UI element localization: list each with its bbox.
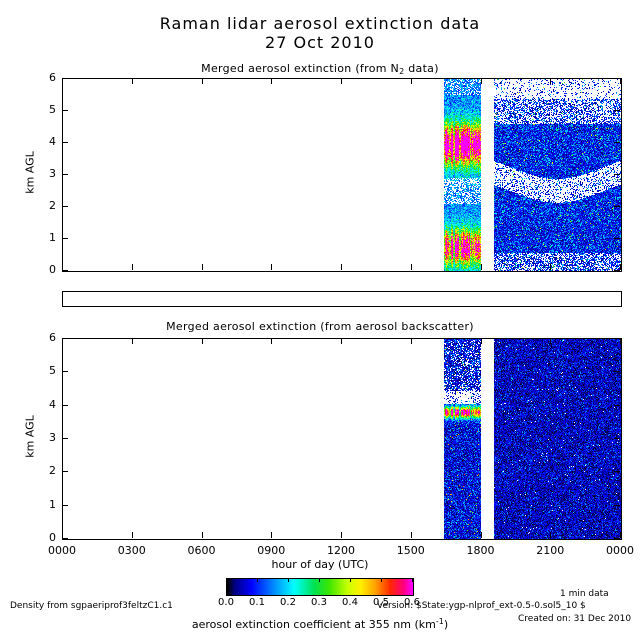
footer-created: Created on: 31 Dec 2010 [518, 614, 631, 624]
y-tick-mark-0-3 [62, 174, 68, 175]
x-axis-label: hour of day (UTC) [0, 558, 640, 571]
colorbar-tick-mark-6 [412, 578, 413, 582]
x-tick-mark-top-0-4 [341, 78, 342, 84]
y-axis-label-0: km AGL [24, 143, 37, 203]
x-tick-label-3: 0900 [248, 544, 294, 557]
colorbar[interactable] [226, 578, 414, 596]
x-tick-label-4: 1200 [318, 544, 364, 557]
x-tick-mark-0-3 [271, 264, 272, 270]
y-tick-mark-1-2 [62, 471, 68, 472]
y-tick-mark-right-0-5 [614, 110, 620, 111]
x-tick-mark-0-5 [411, 264, 412, 270]
x-tick-mark-top-0-1 [132, 78, 133, 84]
x-tick-mark-0-6 [481, 264, 482, 270]
colorbar-title-suffix: ) [444, 618, 448, 631]
y-tick-mark-right-0-0 [614, 270, 620, 271]
plot-panel-top[interactable] [62, 78, 622, 272]
colorbar-tick-mark-4 [350, 578, 351, 582]
x-tick-mark-1-0 [62, 532, 63, 538]
panel-bottom-subtitle-prefix: Merged aerosol extinction (from aerosol … [166, 320, 474, 333]
x-tick-mark-0-0 [62, 264, 63, 270]
x-tick-mark-top-0-8 [620, 78, 621, 84]
panel-bottom-subtitle: Merged aerosol extinction (from aerosol … [0, 320, 640, 333]
x-tick-mark-top-1-0 [62, 338, 63, 344]
colorbar-tick-mark-2 [288, 578, 289, 582]
y-tick-label-1-5: 5 [30, 364, 56, 377]
colorbar-title-prefix: aerosol extinction coefficient at 355 nm… [192, 618, 436, 631]
x-tick-mark-0-7 [550, 264, 551, 270]
y-tick-mark-right-1-1 [614, 505, 620, 506]
panel-top-subtitle: Merged aerosol extinction (from N2 data) [0, 62, 640, 76]
x-tick-mark-top-1-1 [132, 338, 133, 344]
x-tick-mark-top-0-0 [62, 78, 63, 84]
y-tick-mark-right-0-3 [614, 174, 620, 175]
y-tick-mark-1-1 [62, 505, 68, 506]
x-tick-mark-0-1 [132, 264, 133, 270]
y-tick-label-0-5: 5 [30, 103, 56, 116]
colorbar-title-superscript: -1 [436, 617, 444, 626]
panel-top-subtitle-suffix: data) [404, 62, 438, 75]
y-tick-mark-1-0 [62, 538, 68, 539]
y-tick-mark-0-1 [62, 238, 68, 239]
y-tick-label-1-1: 1 [30, 498, 56, 511]
x-tick-mark-0-4 [341, 264, 342, 270]
x-tick-mark-top-0-2 [202, 78, 203, 84]
y-tick-mark-right-1-3 [614, 438, 620, 439]
footer-density-source: Density from sgpaeriprof3feltzC1.c1 [10, 601, 173, 611]
y-tick-label-1-6: 6 [30, 331, 56, 344]
x-tick-mark-0-8 [620, 264, 621, 270]
colorbar-tick-mark-1 [257, 578, 258, 582]
y-tick-label-1-0: 0 [30, 531, 56, 544]
x-tick-mark-top-1-8 [620, 338, 621, 344]
y-tick-label-0-1: 1 [30, 231, 56, 244]
x-tick-mark-1-1 [132, 532, 133, 538]
x-tick-mark-1-4 [341, 532, 342, 538]
x-tick-label-7: 2100 [527, 544, 573, 557]
y-tick-label-0-0: 0 [30, 263, 56, 276]
x-tick-mark-1-7 [550, 532, 551, 538]
status-strip-bar [62, 291, 622, 307]
colorbar-tick-mark-3 [319, 578, 320, 582]
y-tick-mark-right-1-0 [614, 538, 620, 539]
colorbar-gradient [227, 579, 413, 595]
x-tick-label-5: 1500 [388, 544, 434, 557]
y-tick-mark-0-2 [62, 206, 68, 207]
x-tick-mark-1-5 [411, 532, 412, 538]
colorbar-tick-mark-0 [226, 578, 227, 582]
x-tick-label-0: 0000 [39, 544, 85, 557]
y-tick-mark-right-0-1 [614, 238, 620, 239]
y-tick-mark-0-0 [62, 270, 68, 271]
figure-title-line1: Raman lidar aerosol extinction data [0, 14, 640, 33]
x-tick-label-1: 0300 [109, 544, 155, 557]
y-tick-mark-0-5 [62, 110, 68, 111]
figure-title-line2: 27 Oct 2010 [0, 33, 640, 52]
y-tick-mark-right-1-5 [614, 371, 620, 372]
x-tick-mark-top-0-7 [550, 78, 551, 84]
x-tick-mark-top-1-7 [550, 338, 551, 344]
x-tick-mark-top-0-6 [481, 78, 482, 84]
y-tick-mark-right-1-2 [614, 471, 620, 472]
x-tick-label-8: 0000 [597, 544, 640, 557]
plot-panel-bottom[interactable] [62, 338, 622, 540]
footer-version: Version: $State:ygp-nlprof_ext-0.5-0.sol… [377, 601, 586, 611]
y-tick-mark-right-0-2 [614, 206, 620, 207]
x-tick-mark-top-1-3 [271, 338, 272, 344]
x-tick-mark-top-1-2 [202, 338, 203, 344]
x-tick-mark-1-8 [620, 532, 621, 538]
y-tick-mark-0-4 [62, 142, 68, 143]
heatmap-bottom [63, 339, 621, 539]
footer-resolution: 1 min data [560, 589, 609, 599]
y-tick-mark-1-3 [62, 438, 68, 439]
x-tick-mark-top-1-4 [341, 338, 342, 344]
x-tick-mark-top-0-3 [271, 78, 272, 84]
x-tick-mark-1-3 [271, 532, 272, 538]
x-tick-mark-top-0-5 [411, 78, 412, 84]
x-tick-label-6: 1800 [458, 544, 504, 557]
y-tick-mark-1-4 [62, 405, 68, 406]
y-tick-mark-right-0-4 [614, 142, 620, 143]
figure-canvas: Raman lidar aerosol extinction data 27 O… [0, 0, 640, 640]
colorbar-tick-mark-5 [381, 578, 382, 582]
y-axis-label-1: km AGL [24, 407, 37, 467]
y-tick-label-0-6: 6 [30, 71, 56, 84]
x-tick-mark-top-1-5 [411, 338, 412, 344]
y-tick-mark-1-5 [62, 371, 68, 372]
y-tick-mark-right-1-4 [614, 405, 620, 406]
heatmap-top [63, 79, 621, 271]
x-tick-mark-0-2 [202, 264, 203, 270]
x-tick-mark-1-6 [481, 532, 482, 538]
x-tick-mark-top-1-6 [481, 338, 482, 344]
panel-top-subtitle-prefix: Merged aerosol extinction (from N [201, 62, 399, 75]
x-tick-mark-1-2 [202, 532, 203, 538]
x-tick-label-2: 0600 [179, 544, 225, 557]
